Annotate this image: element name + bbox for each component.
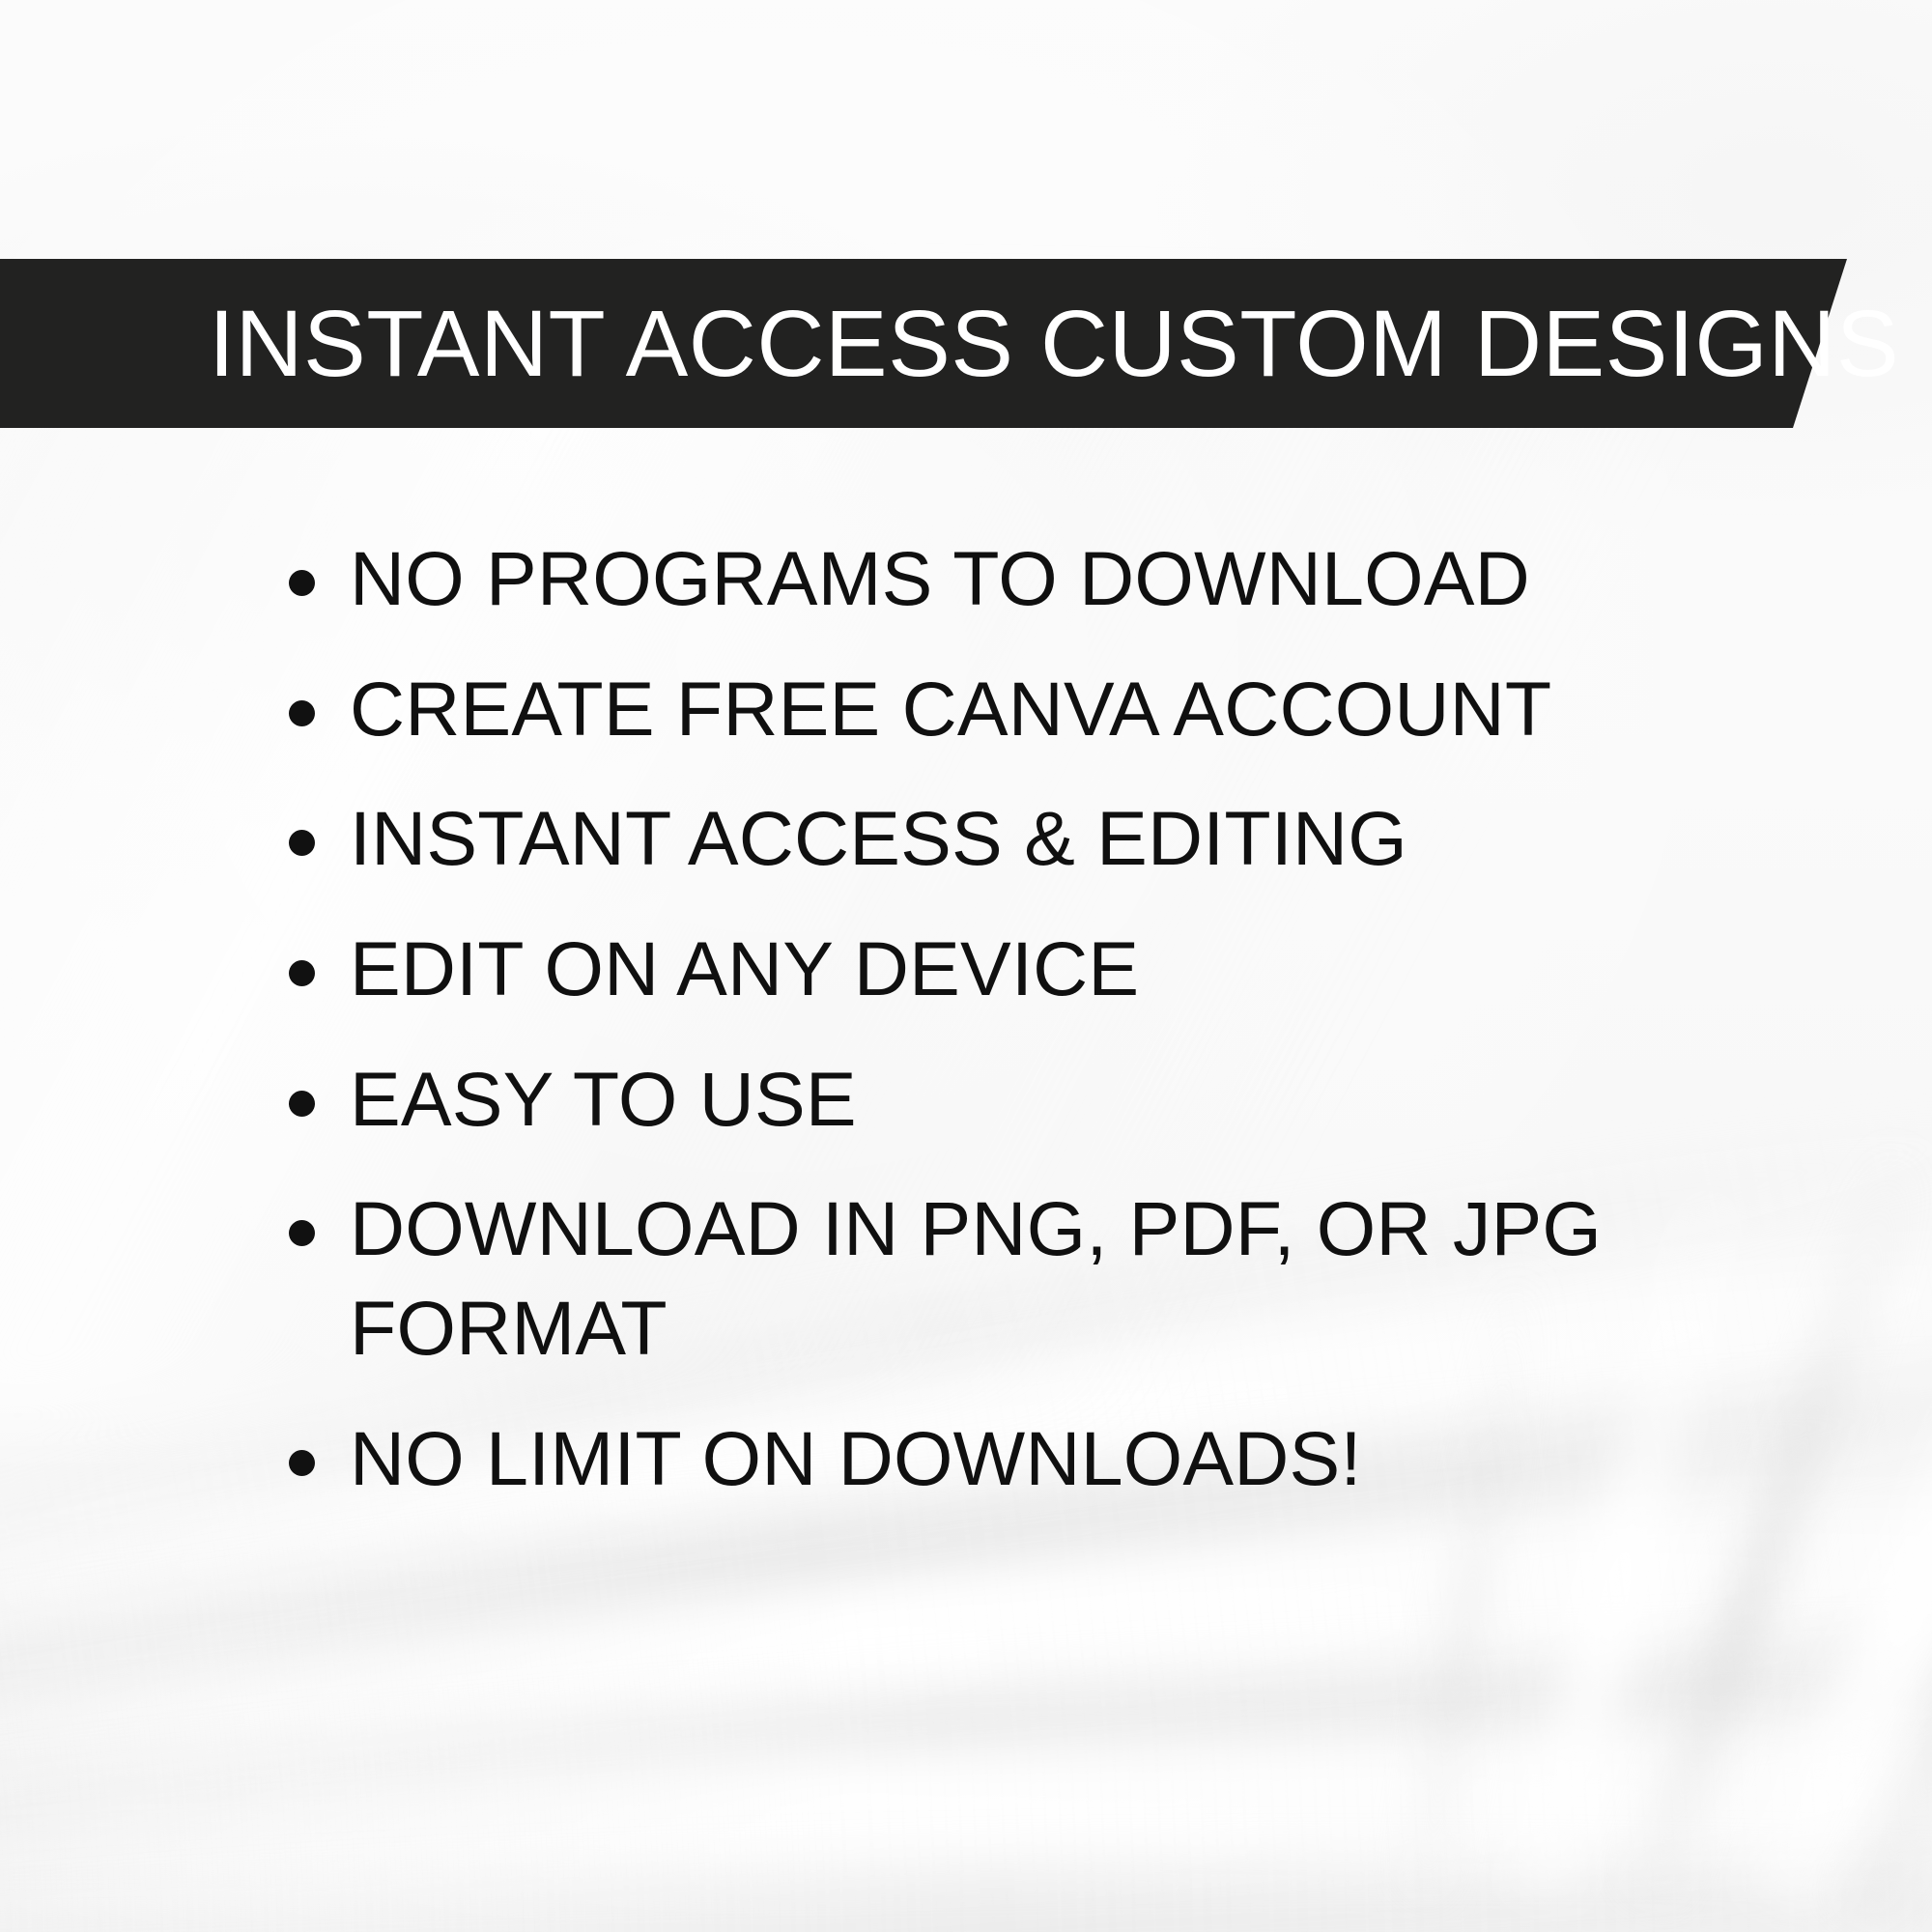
bullet-dot-icon [289, 960, 315, 986]
feature-label: NO PROGRAMS TO DOWNLOAD [350, 529, 1633, 629]
feature-label: DOWNLOAD IN PNG, PDF, OR JPG FORMAT [350, 1179, 1633, 1378]
bullet-dot-icon [289, 1450, 315, 1476]
feature-label: CREATE FREE CANVA ACCOUNT [350, 660, 1633, 759]
list-item: INSTANT ACCESS & EDITING [280, 789, 1633, 889]
feature-label: NO LIMIT ON DOWNLOADS! [350, 1409, 1633, 1509]
feature-label: INSTANT ACCESS & EDITING [350, 789, 1633, 889]
list-item: EASY TO USE [280, 1050, 1633, 1150]
list-item: NO PROGRAMS TO DOWNLOAD [280, 529, 1633, 629]
bullet-dot-icon [289, 1091, 315, 1117]
bullet-dot-icon [289, 1220, 315, 1246]
feature-label: EDIT ON ANY DEVICE [350, 920, 1633, 1019]
list-item: DOWNLOAD IN PNG, PDF, OR JPG FORMAT [280, 1179, 1633, 1378]
feature-list: NO PROGRAMS TO DOWNLOAD CREATE FREE CANV… [280, 529, 1633, 1509]
list-item: CREATE FREE CANVA ACCOUNT [280, 660, 1633, 759]
feature-label: EASY TO USE [350, 1050, 1633, 1150]
bullet-dot-icon [289, 830, 315, 856]
promo-graphic-canvas: INSTANT ACCESS CUSTOM DESIGNS NO PROGRAM… [0, 0, 1932, 1932]
list-item: EDIT ON ANY DEVICE [280, 920, 1633, 1019]
bullet-dot-icon [289, 700, 315, 726]
headline-banner: INSTANT ACCESS CUSTOM DESIGNS [0, 259, 1855, 428]
list-item: NO LIMIT ON DOWNLOADS! [280, 1409, 1633, 1509]
bullet-dot-icon [289, 570, 315, 596]
banner-title: INSTANT ACCESS CUSTOM DESIGNS [209, 259, 1899, 428]
